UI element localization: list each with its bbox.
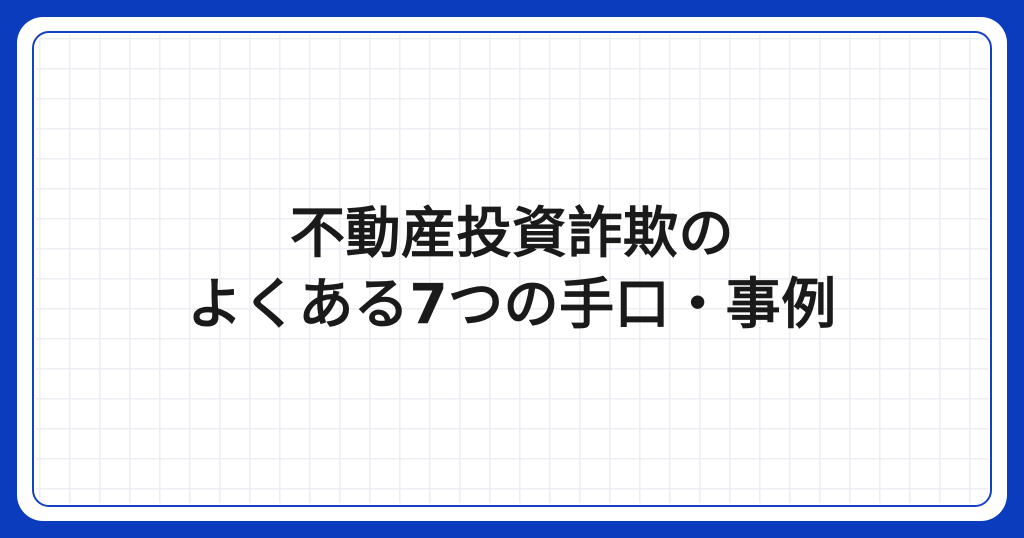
white-mat: 不動産投資詐欺の よくある7つの手口・事例 — [17, 17, 1007, 521]
title-line-2: よくある7つの手口・事例 — [187, 269, 836, 341]
thumbnail-canvas: 不動産投資詐欺の よくある7つの手口・事例 — [0, 0, 1024, 538]
title-line-1: 不動産投資詐欺の — [290, 198, 734, 270]
grid-panel: 不動産投資詐欺の よくある7つの手口・事例 — [32, 31, 992, 507]
title-block: 不動産投資詐欺の よくある7つの手口・事例 — [34, 33, 990, 505]
